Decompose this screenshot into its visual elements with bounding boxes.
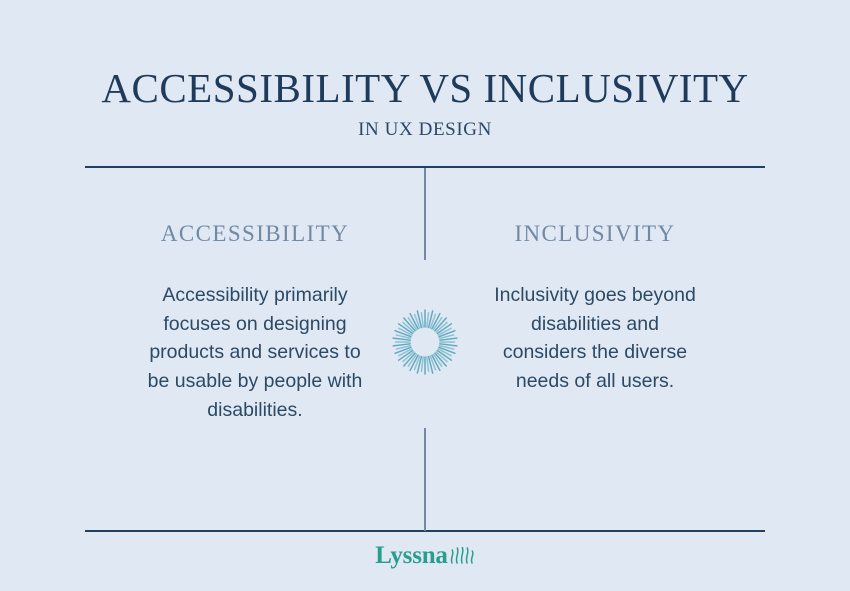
column-heading-inclusivity: INCLUSIVITY: [514, 222, 675, 245]
sunburst-rays: [385, 302, 465, 382]
page-title: ACCESSIBILITY VS INCLUSIVITY: [0, 66, 850, 110]
column-heading-accessibility: ACCESSIBILITY: [161, 222, 349, 245]
column-body-accessibility: Accessibility primarily focuses on desig…: [148, 281, 363, 424]
brand-name: Lyssna: [375, 543, 447, 568]
column-body-inclusivity: Inclusivity goes beyond disabilities and…: [493, 281, 698, 396]
column-inclusivity: INCLUSIVITY Inclusivity goes beyond disa…: [425, 166, 765, 530]
soundwave-icon: [449, 547, 475, 564]
brand-logo: Lyssna: [0, 543, 850, 568]
header: ACCESSIBILITY VS INCLUSIVITY IN UX DESIG…: [0, 66, 850, 139]
infographic-canvas: ACCESSIBILITY VS INCLUSIVITY IN UX DESIG…: [0, 0, 850, 591]
page-subtitle: IN UX DESIGN: [0, 120, 850, 139]
column-accessibility: ACCESSIBILITY Accessibility primarily fo…: [85, 166, 425, 530]
